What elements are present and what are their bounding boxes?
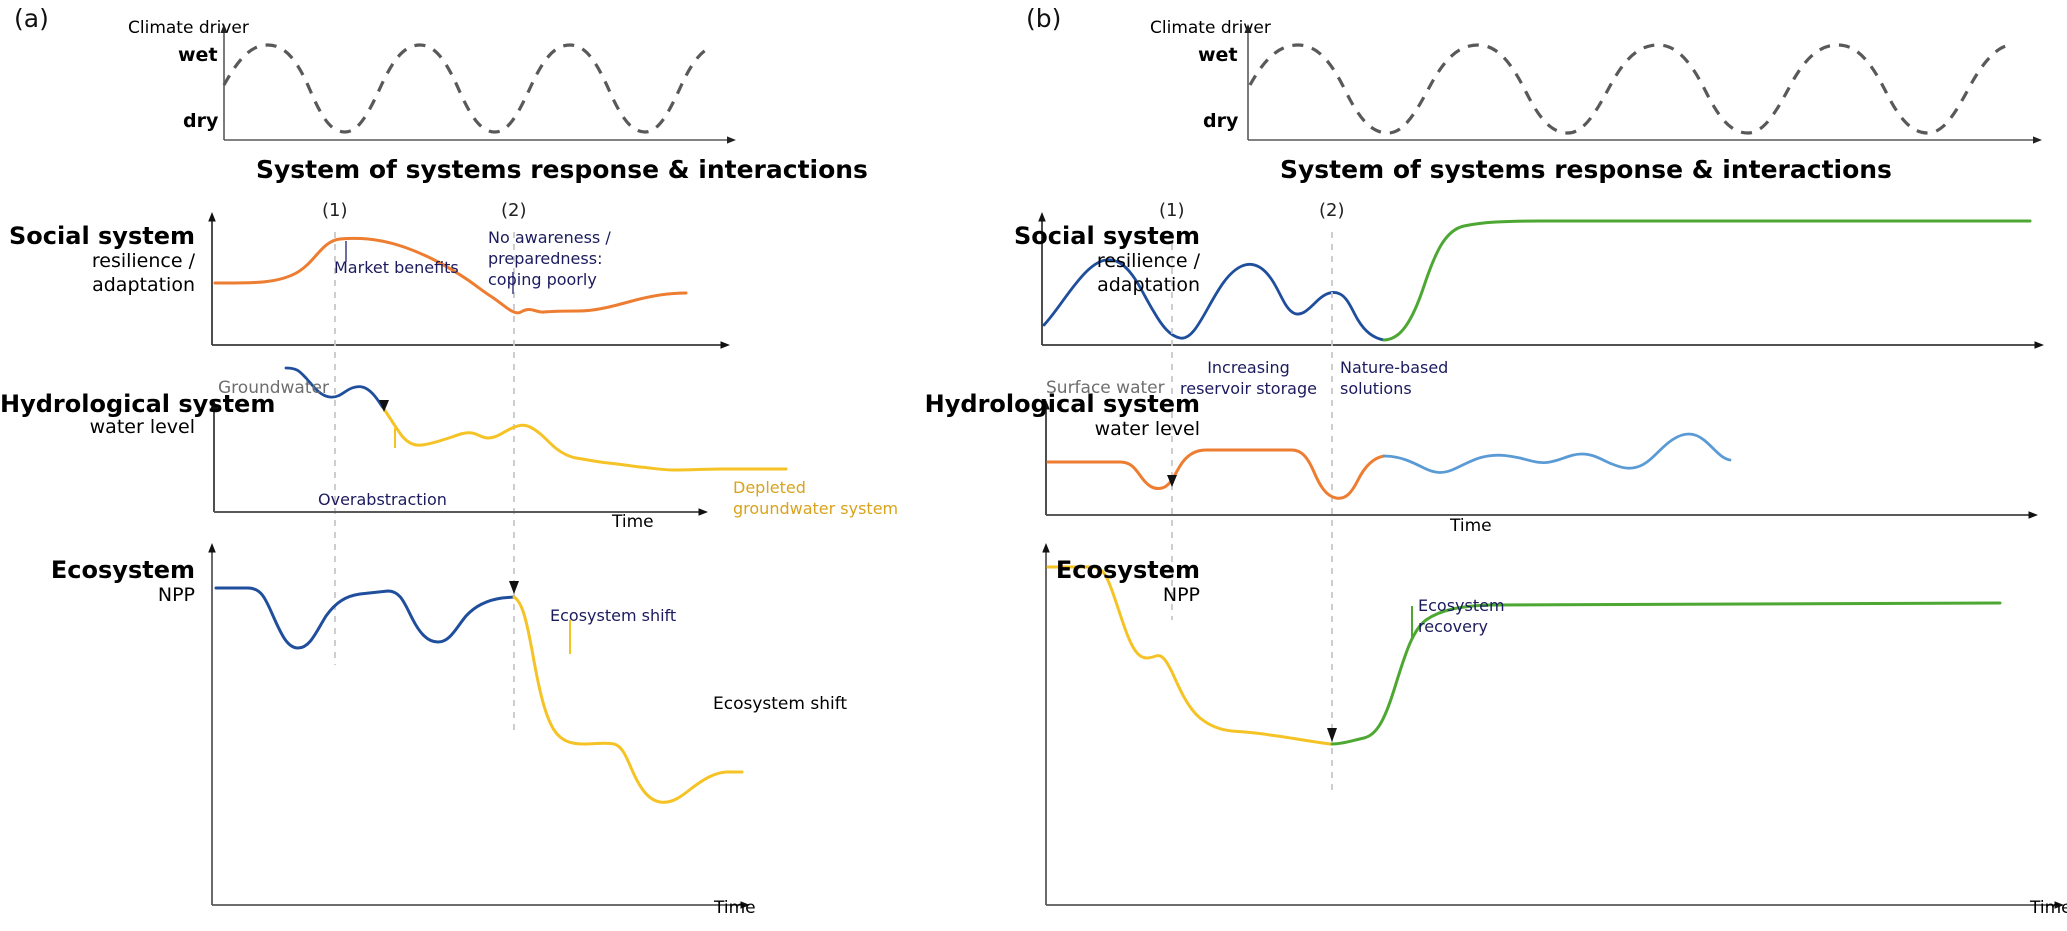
panel-b-banner: System of systems response & interaction… [1280,155,1892,184]
panel-b-eco-subtitle: NPP [860,584,1200,608]
panel-a-note-ecosystem-shift: Ecosystem shift [713,694,847,714]
panel-a-hydro-curve-yellow [384,409,786,470]
panel-a-note-market-benefits: Market benefits [334,258,459,279]
panel-a-marker-2: (2) [501,200,527,221]
panel-a-hydro-title: Hydrological system [0,390,195,418]
panel-a-social-title: Social system [0,222,195,250]
panel-b-curves [1020,0,2067,931]
panel-b-note-recovery: Ecosystem recovery [1418,596,1505,638]
panel-a-note-depleted: Depleted groundwater system [733,478,898,520]
panel-a-note-overabstraction: Overabstraction [318,490,447,511]
panel-b-social-title: Social system [860,222,1200,250]
panel-a-note-ecosystem-shift-text: Ecosystem shift [550,606,676,627]
panel-a-eco-xaxis-label: Time [714,898,756,918]
panel-a-eco-axes [208,543,750,909]
panel-a-hydro-axes [210,400,708,516]
panel-b-hydro-curve-lightblue [1384,434,1730,472]
panel-b-eco-xaxis-label: Time [2030,898,2067,918]
panel-a-eco-arrowhead [509,581,519,594]
panel-a-marker-1: (1) [322,200,348,221]
panel-b-hydro-xaxis-label: Time [1450,516,1492,536]
panel-a-banner: System of systems response & interaction… [256,155,868,184]
panel-b-eco-arrowhead [1327,728,1337,742]
panel-b-note-reservoir: Increasing reservoir storage [1180,358,1317,400]
panel-a: (a) Climate driver wet dry [0,0,1020,931]
panel-a-hydro-yaxis-label: Groundwater [218,378,329,398]
panel-b-marker-1: (1) [1159,200,1185,221]
panel-a-eco-title: Ecosystem [0,556,195,584]
panel-b-climate-axes [1244,24,2042,144]
panel-a-eco-curve-yellow [514,597,742,802]
panel-b-social-curve-green [1384,221,2030,340]
panel-a-eco-curve-blue [216,588,514,648]
panel-a-hydro-xaxis-label: Time [612,512,654,532]
panel-a-eco-subtitle: NPP [0,584,195,608]
panel-b-hydro-curve-orange [1048,450,1384,498]
panel-a-climate-curve [224,45,711,132]
panel-b-social-subtitle: resilience / adaptation [860,250,1200,298]
figure-root: (a) Climate driver wet dry [0,0,2067,931]
panel-a-hydro-subtitle: water level [0,416,195,440]
panel-b-climate-curve [1250,45,2006,133]
panel-b-marker-2: (2) [1319,200,1345,221]
panel-b-hydro-subtitle: water level [860,418,1200,442]
panel-b: (b) [1020,0,2067,931]
panel-a-curves [0,0,1020,931]
panel-a-note-no-awareness: No awareness / preparedness: coping poor… [488,228,611,290]
panel-b-hydro-yaxis-label: Surface water [1046,378,1165,398]
panel-b-eco-title: Ecosystem [860,556,1200,584]
panel-a-social-subtitle: resilience / adaptation [0,250,195,298]
panel-b-note-nbs: Nature-based solutions [1340,358,1448,400]
